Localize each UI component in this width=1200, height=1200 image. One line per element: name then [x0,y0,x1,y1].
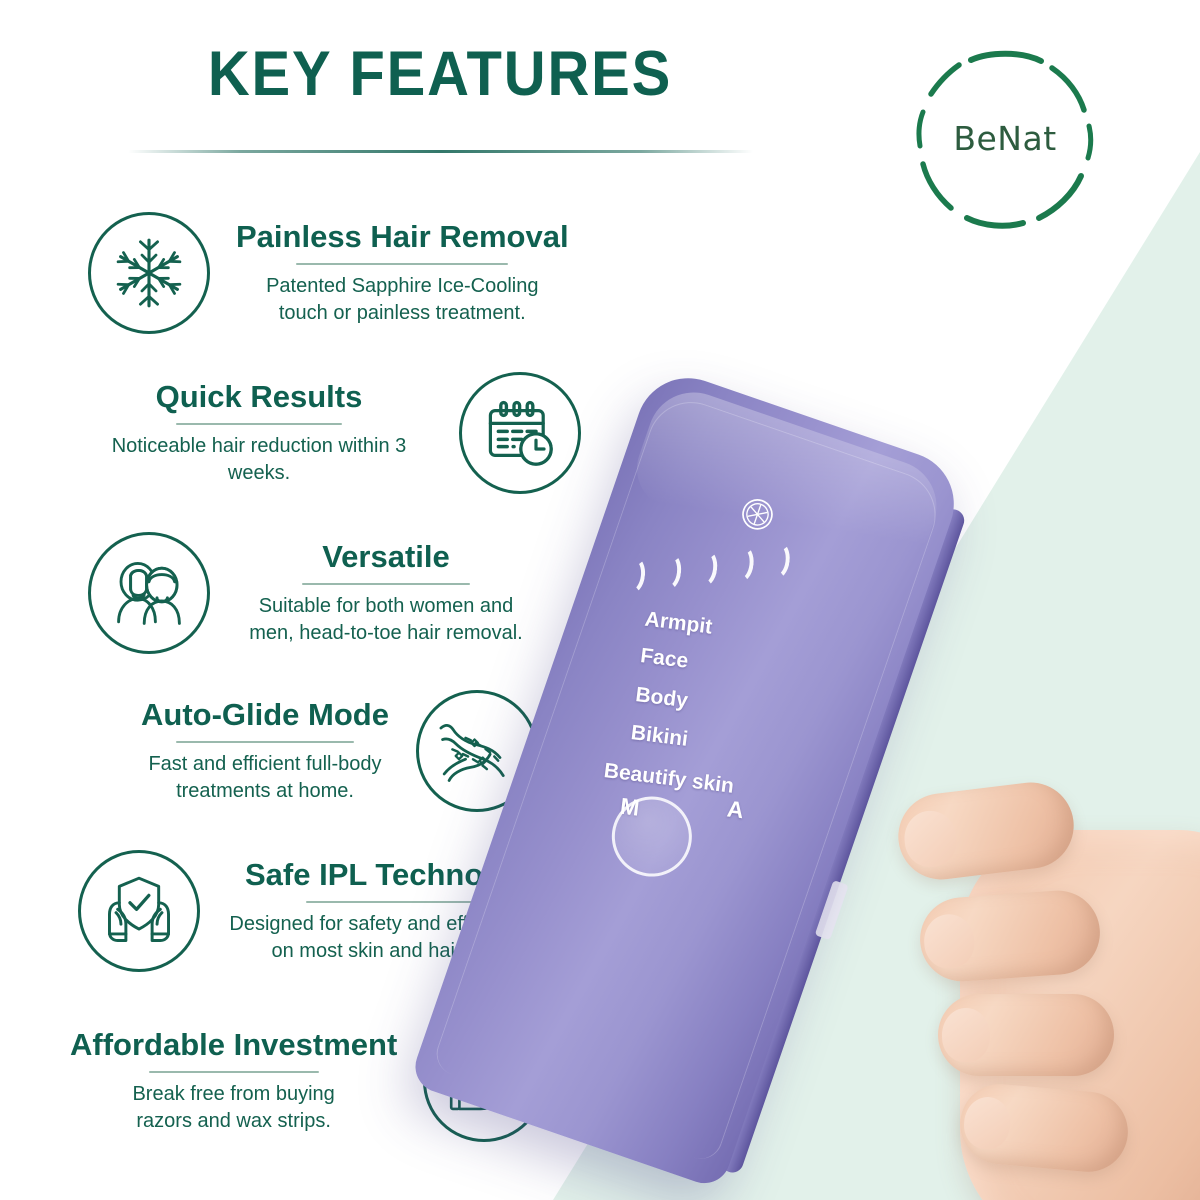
fingernail [901,808,959,870]
auto-mode-label: A [726,795,746,824]
feature-description: Suitable for both women and men, head-to… [236,593,536,646]
feature-auto-glide-mode: Auto-Glide Mode Fast and efficient full-… [140,690,538,812]
intensity-arc-3 [690,548,719,589]
intensity-arc-5 [762,540,791,581]
intensity-arc-2 [654,551,683,592]
intensity-arc-1 [618,555,647,596]
intensity-arc-4 [726,543,755,584]
feature-quick-results: Quick Results Noticeable hair reduction … [85,372,581,494]
brand-logo: BeNat [905,38,1105,238]
feature-versatile: Versatile Suitable for both women and me… [88,532,536,654]
feature-description: Patented Sapphire Ice-Cooling touch or p… [242,273,562,326]
mode-label-bikini: Bikini [630,721,690,752]
feature-title: Painless Hair Removal [236,220,569,255]
feature-divider [296,263,508,265]
product-image: Armpit Face Body Bikini Beautify skin M … [560,380,1200,1200]
fingernail [962,1095,1012,1151]
feature-title: Quick Results [156,380,363,415]
feature-title: Affordable Investment [70,1028,397,1063]
snowflake-icon [736,493,779,536]
mode-label-face: Face [639,644,689,674]
feature-divider [302,583,470,585]
hand-holding-device [810,680,1200,1200]
feature-description: Break free from buying razors and wax st… [106,1081,361,1134]
feature-painless-hair-removal: Painless Hair Removal Patented Sapphire … [88,212,569,334]
middle-finger [917,888,1102,984]
page-title: KEY FEATURES [35,38,845,110]
infographic-canvas: KEY FEATURES BeNat [0,0,1200,1200]
fingernail [942,1008,990,1062]
mode-label-body: Body [634,683,689,713]
ring-finger [938,994,1114,1076]
shield-hands-icon [78,850,200,972]
two-people-icon [88,532,210,654]
feature-title: Auto-Glide Mode [141,698,389,733]
logo-wordmark: BeNat [905,38,1105,238]
power-button[interactable] [601,786,703,888]
mode-label-armpit: Armpit [643,608,713,640]
feature-divider [176,741,354,743]
fingernail [922,913,976,970]
feature-divider [306,901,486,903]
snowflake-icon [88,212,210,334]
feature-description: Fast and efficient full-body treatments … [140,751,390,804]
feature-title: Versatile [322,540,450,575]
feature-divider [149,1071,319,1073]
title-divider [128,150,753,153]
feature-description: Noticeable hair reduction within 3 weeks… [85,433,433,486]
feature-divider [176,423,342,425]
